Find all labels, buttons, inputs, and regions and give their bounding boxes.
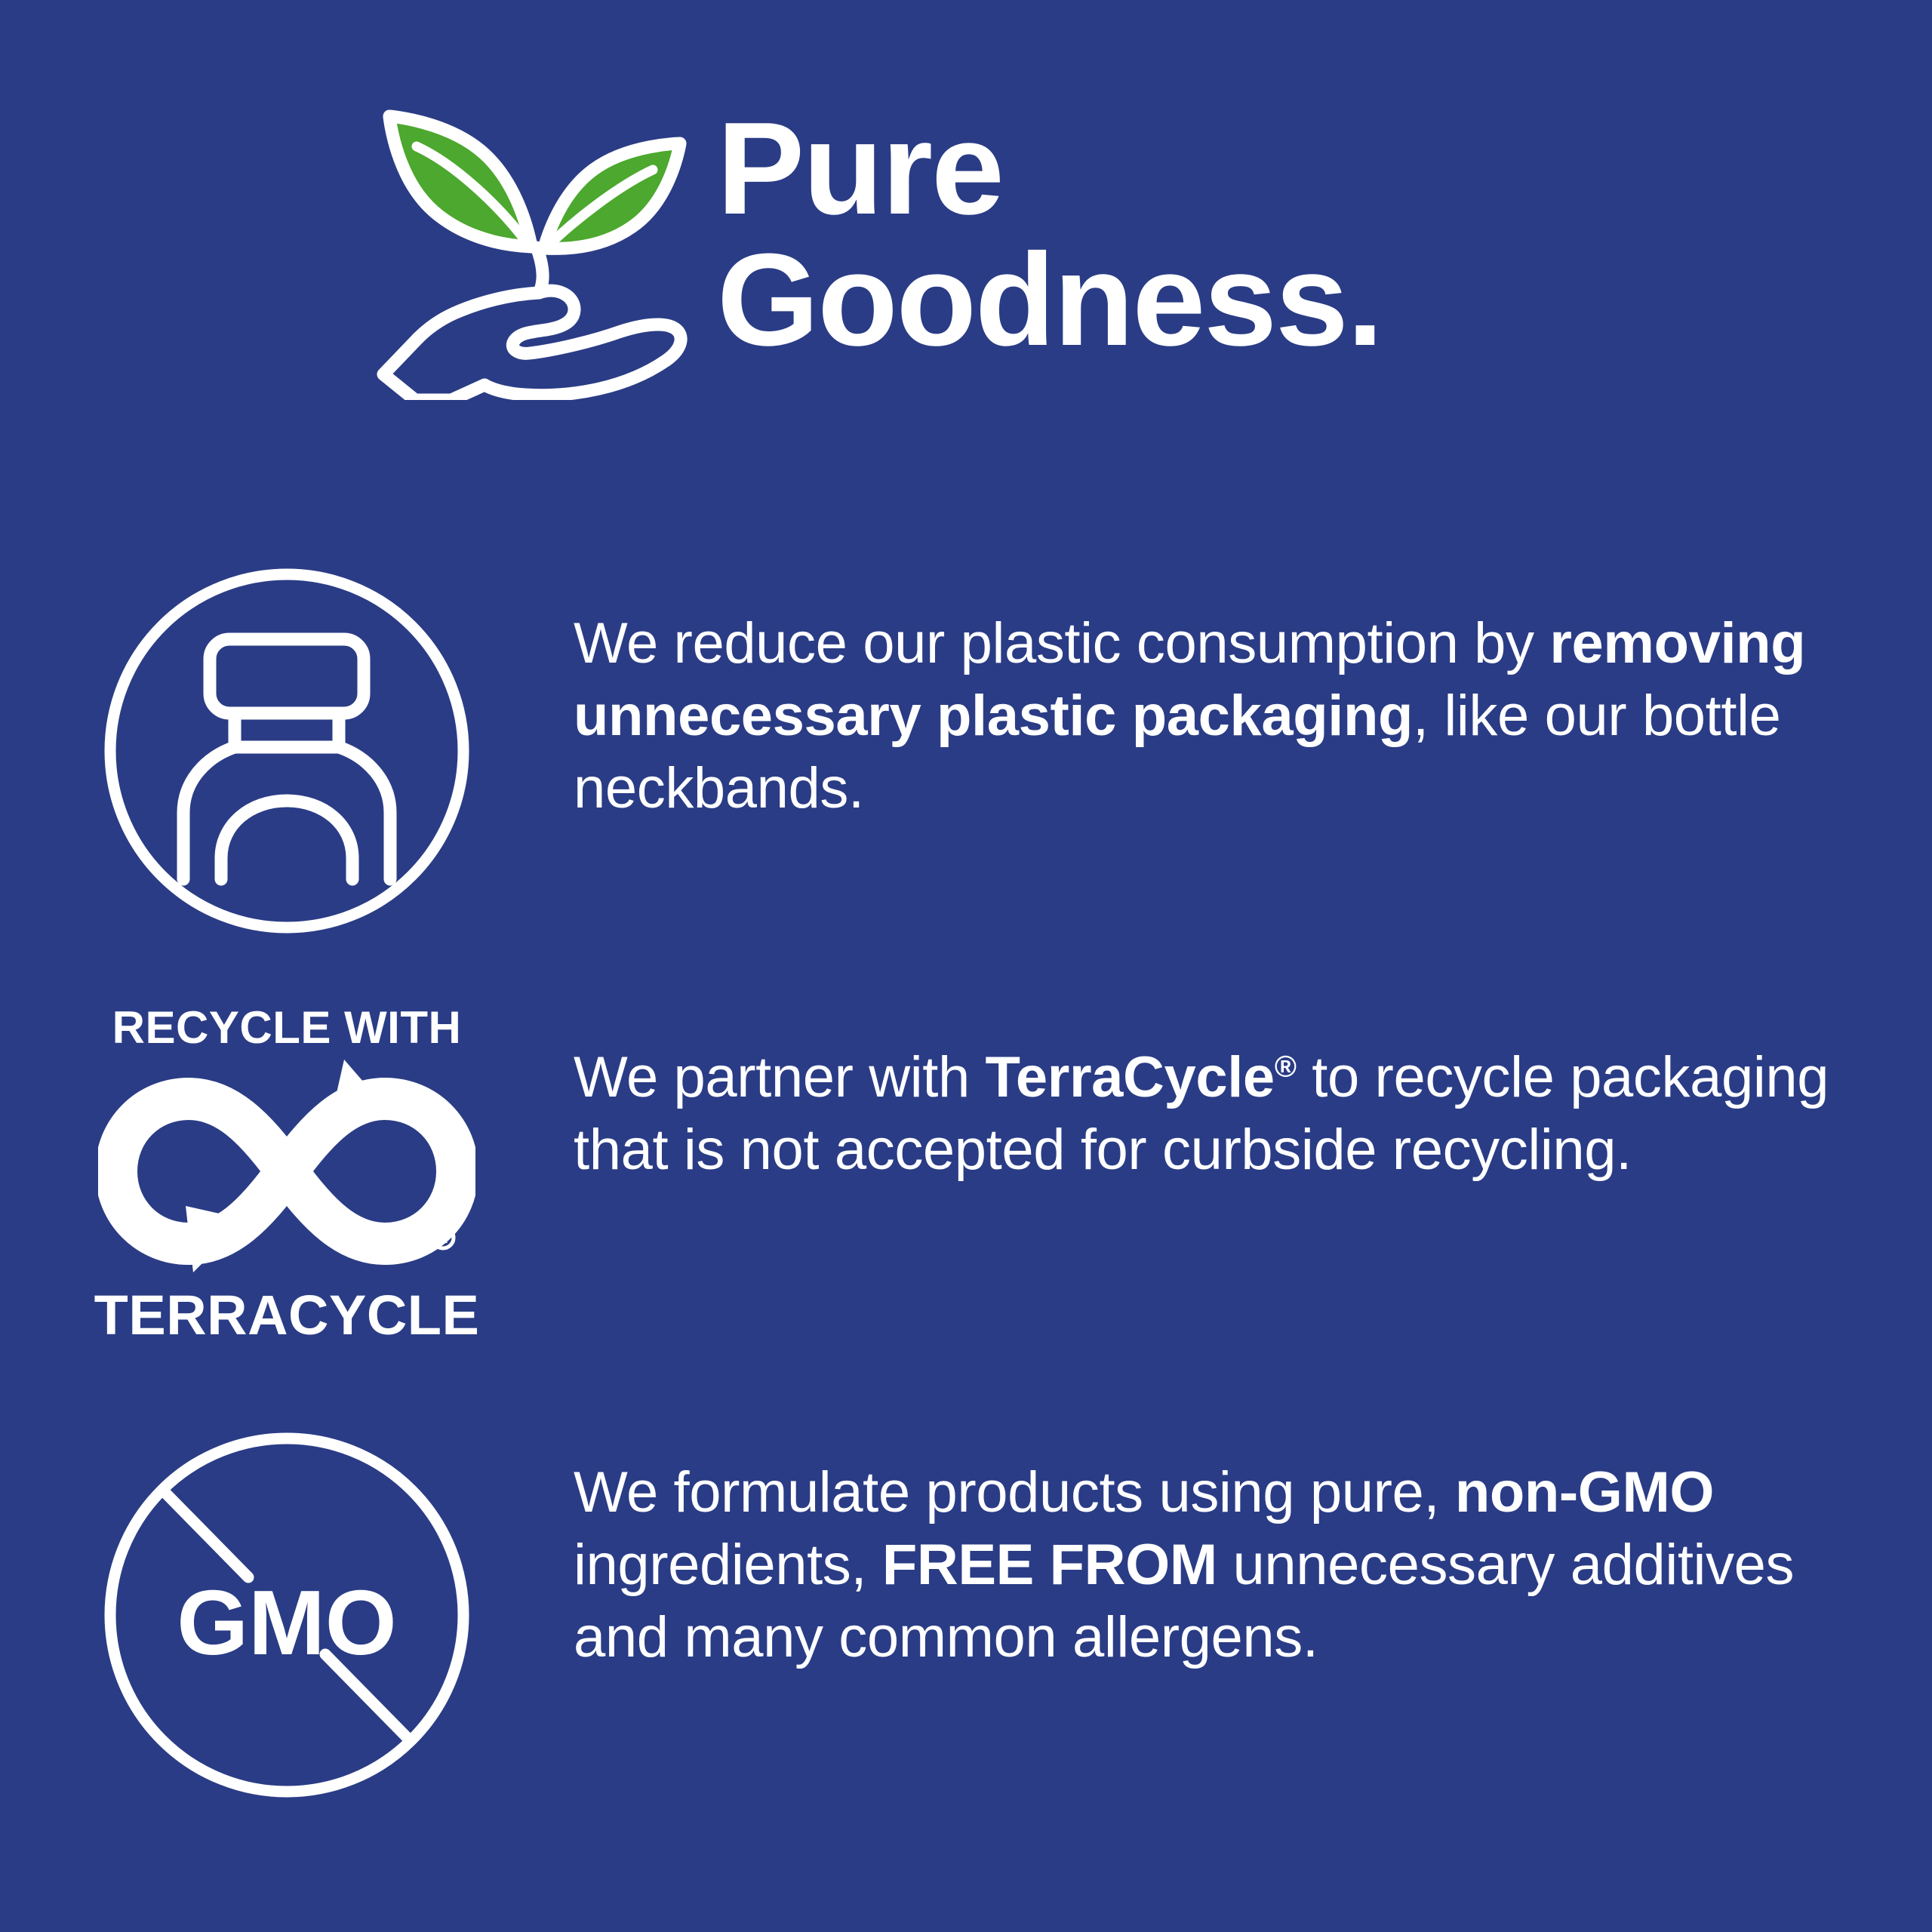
no-gmo-icon: GMO [102,1426,472,1804]
feature-icon-container [0,562,574,940]
feature-text-terracycle: We partner with TerraCycle® to recycle p… [574,1041,1932,1186]
gmo-label: GMO [177,1571,396,1674]
feature-text-plastic: We reduce our plastic consumption by rem… [574,608,1932,824]
terracycle-top-label: RECYCLE WITH [91,1005,483,1051]
feature-text-gmo: We formulate products using pure, non-GM… [574,1457,1932,1673]
feature-row-plastic: We reduce our plastic consumption by rem… [0,608,1932,940]
terracycle-bottom-label: TERRACYCLE [91,1287,483,1343]
page-title: Pure Goodness. [717,98,1382,365]
pure-goodness-infographic: Pure Goodness. We reduce our plastic con… [0,0,1932,1932]
feature-row-gmo: GMO We formulate products using pure, no… [0,1457,1932,1804]
bottle-in-circle-icon [102,562,472,940]
svg-text:R: R [438,1231,448,1247]
hand-holding-sprout-icon [370,98,694,400]
terracycle-loop-icon: R [98,1058,475,1284]
feature-row-terracycle: RECYCLE WITH R TERRACYCLE We partner wit… [0,1041,1932,1343]
brand-lockup: Pure Goodness. [370,98,1382,400]
feature-icon-container: RECYCLE WITH R TERRACYCLE [0,1005,574,1343]
feature-icon-container: GMO [0,1426,574,1804]
terracycle-badge: RECYCLE WITH R TERRACYCLE [91,1005,483,1343]
